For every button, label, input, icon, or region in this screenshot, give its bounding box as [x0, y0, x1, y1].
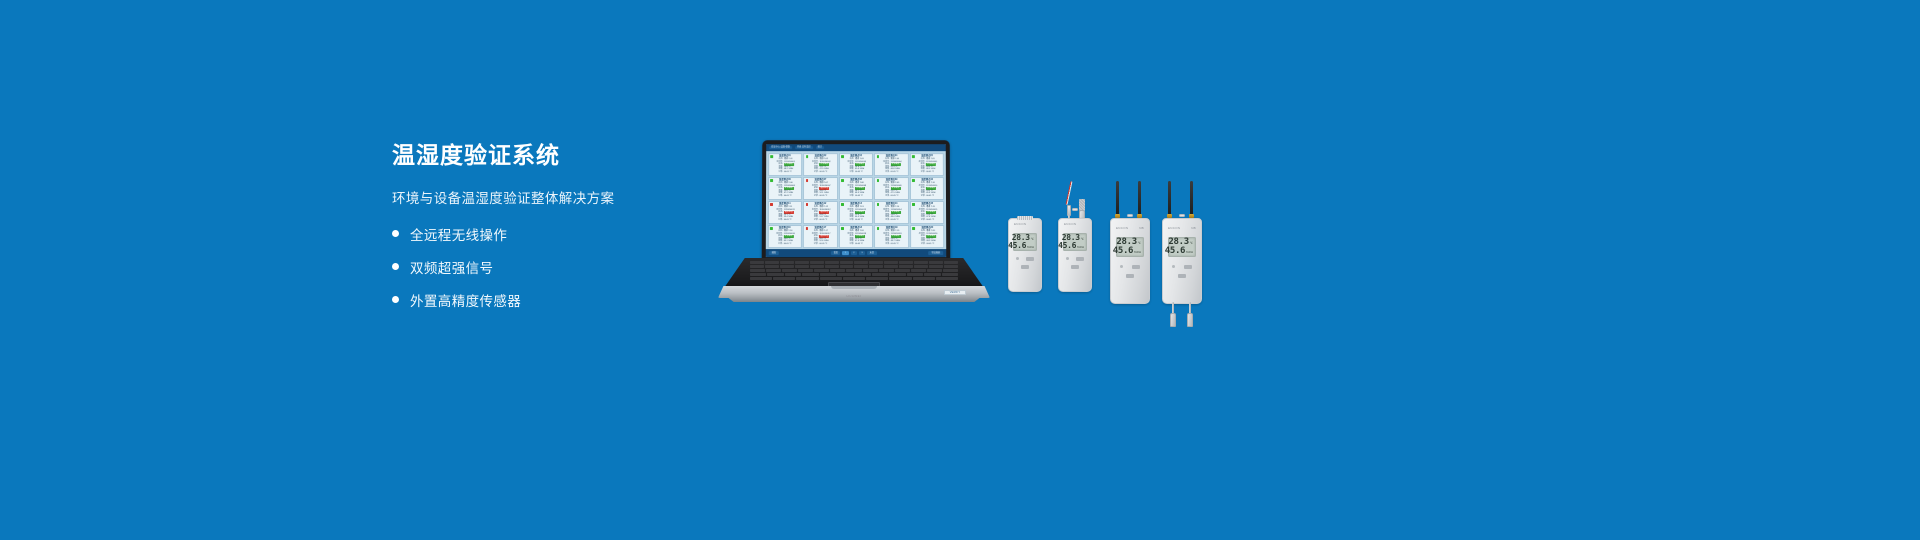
sensor-card-row: 记录:00:05 ℃	[770, 171, 801, 173]
keyboard-key[interactable]	[837, 273, 853, 276]
status-led-icon	[806, 155, 809, 158]
sensor-card-row: 记录:00:05 ℃	[769, 243, 800, 246]
hanging-hole-icon	[1179, 214, 1185, 217]
sensor-card-row: 记录:00:05 ℃	[805, 219, 836, 222]
toolbar-item-device[interactable]: 验证中心-设备/参数	[769, 146, 792, 149]
sensor-card-key: 记录:	[876, 219, 890, 222]
keyboard-key[interactable]	[796, 277, 818, 280]
status-led-icon	[877, 179, 880, 182]
list-item: 全远程无线操作	[392, 224, 722, 244]
device-controls[interactable]	[1059, 257, 1091, 261]
keyboard-key[interactable]	[750, 273, 766, 276]
sensor-card-value: 00:05 ℃	[855, 243, 871, 246]
keyboard-row	[750, 269, 958, 272]
sensor-card-row: 记录:00:05 ℃	[912, 219, 943, 222]
laptop-foot	[726, 298, 982, 302]
list-item: 外置高精度传感器	[392, 290, 722, 310]
hanging-hole-icon	[1072, 208, 1078, 211]
device-function-button[interactable]	[1184, 265, 1192, 269]
device-brand-row: ENCON	[1009, 222, 1041, 226]
sensor-card-title: 温度测点03	[841, 155, 872, 157]
sensor-card-title: 温度测点10	[912, 179, 943, 181]
antenna-left-icon	[1116, 181, 1119, 215]
bullet-dot-icon	[392, 296, 399, 303]
keyboard-keys	[750, 261, 958, 280]
device-logger-probe: ENCON 28.3 ℃ 45.6 %RH	[1058, 203, 1092, 292]
status-led-icon	[912, 203, 915, 206]
keyboard-key[interactable]	[840, 261, 854, 264]
keyboard-key[interactable]	[879, 269, 894, 272]
sensor-card-value: 00:05 ℃	[855, 195, 871, 197]
sensor-card-row: 记录:00:05 ℃	[805, 243, 836, 246]
status-led-icon	[841, 203, 844, 206]
sensor-card-title: 温度测点08	[841, 179, 872, 181]
sensor-card-value: 00:05 ℃	[784, 219, 800, 222]
sensor-card-title: 温度测点11	[769, 203, 800, 205]
device-function-button[interactable]	[1026, 257, 1034, 261]
keyboard-key[interactable]	[795, 265, 809, 268]
bullet-dot-icon	[392, 263, 399, 270]
sensor-card-title: 温度测点01	[770, 155, 801, 157]
sensor-card-key: 记录:	[912, 219, 926, 222]
keyboard-key[interactable]	[798, 269, 813, 272]
sensor-card[interactable]: 温度测点06名称:通道 T-06序列号:1120056006状态:正常采集温度:…	[768, 177, 803, 200]
external-probe-left	[1170, 313, 1176, 327]
keyboard-key[interactable]	[820, 277, 842, 280]
device-menu-button[interactable]	[1071, 265, 1079, 269]
sensor-card-key: 记录:	[769, 243, 783, 246]
page-title: 温湿度验证系统	[392, 142, 722, 170]
probe-cable	[1066, 181, 1073, 205]
banner-subtitle: 环境与设备温湿度验证整体解决方案	[392, 187, 722, 207]
device-logger-dual-antenna: ENCON NB 28.3 ℃ 45.6 %RH	[1110, 181, 1150, 304]
laptop-lid: 验证中心-设备/参数 列表 实时监控 统计 温度测点01名称:通道 T-01序列…	[762, 140, 951, 262]
keyboard-key[interactable]	[810, 261, 824, 264]
keyboard-key[interactable]	[929, 261, 943, 264]
device-lcd-display: 28.3 ℃ 45.6 %RH	[1063, 233, 1087, 251]
keyboard-key[interactable]	[863, 269, 878, 272]
pagination-page[interactable]: 3	[859, 251, 865, 255]
keyboard-key[interactable]	[944, 265, 958, 268]
toolbar-item-monitor[interactable]: 列表 实时监控	[795, 146, 813, 149]
laptop-sticker: VERIFY	[944, 290, 966, 295]
sensor-card-value: 00:05 ℃	[926, 171, 942, 173]
sensor-card-row: 记录:00:05 ℃	[876, 171, 907, 173]
sensor-card-key: 记录:	[770, 195, 784, 197]
lcd-humidity-row: 45.6 %RH	[1119, 247, 1141, 256]
device-menu-button[interactable]	[1126, 274, 1134, 278]
keyboard-key[interactable]	[825, 261, 839, 264]
sensor-card[interactable]: 温度测点15名称:通道 T-15序列号:1120056015状态:正常采集温度:…	[910, 201, 945, 224]
sensor-card-title: 温度测点17	[805, 227, 836, 229]
sensor-card-title: 温度测点05	[912, 155, 943, 157]
keyboard-key[interactable]	[869, 261, 883, 264]
keyboard-key[interactable]	[895, 269, 910, 272]
banner-copy: 温湿度验证系统 环境与设备温湿度验证整体解决方案 全远程无线操作 双频超强信号 …	[392, 142, 722, 310]
external-probe-right	[1187, 313, 1193, 327]
status-led-icon	[841, 227, 844, 230]
sensor-card[interactable]: 温度测点01名称:通道 T-01序列号:1120056001状态:正常采集温度:…	[768, 153, 803, 176]
sensor-card-key: 记录:	[805, 219, 819, 222]
toolbar-item-stats[interactable]: 统计	[816, 146, 824, 149]
keyboard-key[interactable]	[872, 273, 888, 276]
sensor-card-value: 00:05 ℃	[820, 171, 836, 173]
keyboard-key[interactable]	[889, 277, 911, 280]
keyboard-key[interactable]	[924, 273, 940, 276]
keyboard-key[interactable]	[855, 273, 871, 276]
sensor-card-value: 00:05 ℃	[784, 171, 800, 173]
device-controls[interactable]	[1009, 257, 1041, 261]
keyboard-key[interactable]	[767, 273, 783, 276]
keyboard-key[interactable]	[889, 273, 905, 276]
device-controls[interactable]	[1163, 265, 1201, 269]
device-brand-row: ENCON NB	[1163, 226, 1201, 230]
lcd-humidity-value: 45.6	[1008, 242, 1026, 250]
pagination-page[interactable]: 首页	[831, 251, 840, 255]
sensor-card[interactable]: 温度测点20名称:通道 T-20序列号:1120056020状态:正常采集温度:…	[910, 225, 945, 248]
sensor-card-key: 记录:	[841, 219, 855, 222]
sensor-card-row: 记录:00:05 ℃	[805, 195, 836, 197]
antenna-left-icon	[1168, 181, 1171, 215]
lcd-humidity-unit: %RH	[1186, 251, 1193, 254]
sensor-card-title: 温度测点18	[841, 227, 872, 229]
sensor-card[interactable]: 温度测点19名称:通道 T-19序列号:1120056019状态:正常采集温度:…	[874, 225, 909, 248]
sensor-card-title: 温度测点07	[805, 179, 836, 181]
bullet-dot-icon	[392, 230, 399, 237]
device-brand-row: ENCON	[1059, 222, 1091, 226]
keyboard-key[interactable]	[765, 265, 779, 268]
lcd-temperature-unit: ℃	[1081, 238, 1084, 241]
keyboard-key[interactable]	[884, 265, 898, 268]
sensor-card[interactable]: 温度测点08名称:通道 T-08序列号:1120056008状态:正常采集温度:…	[839, 177, 874, 200]
keyboard-row	[750, 277, 958, 280]
keyboard-key[interactable]	[884, 261, 898, 264]
device-function-button[interactable]	[1076, 257, 1084, 261]
status-led-icon	[770, 227, 773, 230]
keyboard-key[interactable]	[854, 261, 868, 264]
sensor-card-title: 温度测点06	[770, 179, 801, 181]
sensor-card-row: 记录:00:05 ℃	[876, 195, 907, 197]
sensor-card-title: 温度测点14	[876, 203, 907, 205]
sensor-card-key: 记录:	[912, 171, 926, 173]
lcd-humidity-row: 45.6 %RH	[1016, 242, 1034, 250]
app-bottom-toolbar: 刷新 首页123末页 导出报表	[766, 249, 947, 257]
keyboard-key[interactable]	[840, 265, 854, 268]
keyboard-key[interactable]	[773, 277, 795, 280]
laptop-product-image: 验证中心-设备/参数 列表 实时监控 统计 温度测点01名称:通道 T-01序列…	[718, 140, 990, 302]
sensor-card[interactable]: 温度测点10名称:通道 T-10序列号:1120056010状态:正常采集温度:…	[910, 177, 945, 200]
status-led-icon	[806, 179, 809, 182]
device-brand-left: ENCON	[1116, 226, 1128, 230]
sensor-card-key: 记录:	[805, 243, 819, 246]
product-banner: 温湿度验证系统 环境与设备温湿度验证整体解决方案 全远程无线操作 双频超强信号 …	[0, 0, 1920, 540]
sensor-card-row: 记录:00:05 ℃	[841, 195, 872, 197]
lcd-humidity-unit: %RH	[1134, 251, 1141, 254]
laptop-screen: 验证中心-设备/参数 列表 实时监控 统计 温度测点01名称:通道 T-01序列…	[766, 144, 947, 257]
vent-grill-icon	[1017, 216, 1033, 220]
keyboard-key[interactable]	[907, 273, 923, 276]
status-led-icon	[912, 227, 915, 230]
pagination-page[interactable]: 2	[851, 251, 857, 255]
keyboard-key[interactable]	[899, 265, 913, 268]
keyboard-key[interactable]	[943, 269, 958, 272]
app-toolbar: 验证中心-设备/参数 列表 实时监控 统计	[766, 144, 946, 151]
sensor-card-value: 00:05 ℃	[819, 195, 835, 197]
keyboard-key[interactable]	[810, 265, 824, 268]
device-controls[interactable]	[1111, 265, 1149, 269]
sensor-card-title: 温度测点15	[912, 203, 943, 205]
lcd-humidity-value: 45.6	[1165, 247, 1185, 256]
keyboard-key[interactable]	[750, 269, 765, 272]
status-led-icon	[806, 203, 809, 206]
status-led-icon	[841, 155, 844, 158]
keyboard-key[interactable]	[843, 277, 865, 280]
sensor-card[interactable]: 温度测点13名称:通道 T-13序列号:1120056013状态:正常采集温度:…	[839, 201, 874, 224]
lcd-humidity-unit: %RH	[1027, 246, 1034, 249]
sensor-card-grid: 温度测点01名称:通道 T-01序列号:1120056001状态:正常采集温度:…	[766, 151, 946, 249]
keyboard-key[interactable]	[927, 269, 942, 272]
list-item: 双频超强信号	[392, 257, 722, 277]
keyboard-row	[750, 265, 958, 268]
lcd-humidity-value: 45.6	[1058, 242, 1076, 250]
keyboard-key[interactable]	[914, 261, 928, 264]
keyboard-key[interactable]	[913, 277, 935, 280]
lcd-humidity-unit: %RH	[1077, 246, 1084, 249]
keyboard-key[interactable]	[766, 269, 781, 272]
keyboard-key[interactable]	[802, 273, 818, 276]
device-lcd-display: 28.3 ℃ 45.6 %RH	[1116, 237, 1144, 257]
sensor-card-row: 记录:00:05 ℃	[805, 171, 836, 173]
sensor-card-value: 00:05 ℃	[891, 243, 907, 246]
status-led-icon	[770, 179, 773, 182]
device-power-button[interactable]	[1066, 257, 1069, 260]
sensor-card-value: 00:05 ℃	[926, 243, 942, 246]
sensor-card-value: 00:05 ℃	[926, 219, 942, 222]
sensor-card-key: 记录:	[841, 171, 855, 173]
lid-notch	[831, 286, 877, 289]
sensor-card-title: 温度测点16	[769, 227, 800, 229]
sensor-card[interactable]: 温度测点12名称:通道 T-12序列号:1120056012状态:超限报警温度:…	[803, 201, 838, 224]
keyboard-key[interactable]	[765, 261, 779, 264]
device-menu-button[interactable]	[1021, 265, 1029, 269]
keyboard-key[interactable]	[911, 269, 926, 272]
sensor-card-key: 记录:	[912, 243, 926, 246]
sensor-card-value: 00:05 ℃	[784, 243, 800, 246]
pagination-page[interactable]: 末页	[867, 251, 876, 255]
lcd-humidity-row: 45.6 %RH	[1171, 247, 1193, 256]
laptop-brand-label: HUAWEI	[847, 294, 862, 298]
keyboard-row	[750, 261, 958, 264]
sensor-card[interactable]: 温度测点18名称:通道 T-18序列号:1120056018状态:正常采集温度:…	[839, 225, 874, 248]
sensor-card[interactable]: 温度测点16名称:通道 T-16序列号:1120056016状态:正常采集温度:…	[767, 225, 802, 248]
sensor-card[interactable]: 温度测点14名称:通道 T-14序列号:1120056014状态:正常采集温度:…	[874, 201, 909, 224]
keyboard-key[interactable]	[854, 265, 868, 268]
keyboard-key[interactable]	[942, 273, 958, 276]
sensor-card-title: 温度测点20	[912, 227, 943, 229]
sensor-card[interactable]: 温度测点17名称:通道 T-17序列号:1120056017状态:超限报警温度:…	[803, 225, 838, 248]
feature-label: 全远程无线操作	[410, 224, 507, 244]
device-lcd-display: 28.3 ℃ 45.6 %RH	[1168, 237, 1196, 257]
device-function-button[interactable]	[1132, 265, 1140, 269]
device-controls-secondary[interactable]	[1009, 265, 1041, 269]
keyboard-key[interactable]	[750, 261, 764, 264]
sensor-card-value: 00:05 ℃	[891, 219, 907, 222]
keyboard-key[interactable]	[944, 261, 958, 264]
sensor-card-row: 记录:00:05 ℃	[876, 219, 907, 222]
sensor-card-row: 记录:00:05 ℃	[912, 195, 943, 197]
lcd-temperature-unit: ℃	[1031, 238, 1034, 241]
keyboard-key[interactable]	[846, 269, 861, 272]
antenna-right-icon	[1190, 181, 1193, 215]
laptop-keyboard-deck	[724, 258, 984, 288]
sensor-card-title: 温度测点09	[876, 179, 907, 181]
keyboard-key[interactable]	[899, 261, 913, 264]
device-power-button[interactable]	[1172, 265, 1175, 268]
status-led-icon	[806, 227, 809, 230]
sensor-device-group: ENCON 28.3 ℃ 45.6 %RH	[1000, 175, 1220, 315]
hanging-hole-icon	[1127, 214, 1133, 217]
keyboard-key[interactable]	[780, 261, 794, 264]
device-brand-left: ENCON	[1064, 222, 1076, 226]
keyboard-key[interactable]	[914, 265, 928, 268]
device-controls-secondary[interactable]	[1163, 274, 1201, 278]
keyboard-key[interactable]	[782, 269, 797, 272]
lcd-temperature-unit: ℃	[1190, 242, 1193, 245]
sensor-card-value: 00:05 ℃	[855, 171, 871, 173]
status-led-icon	[877, 203, 880, 206]
sensor-card-value: 00:05 ℃	[784, 195, 800, 197]
sensor-card-row: 记录:00:05 ℃	[770, 195, 801, 197]
refresh-button[interactable]: 刷新	[769, 251, 779, 255]
device-brand-right: NB	[1139, 226, 1144, 230]
keyboard-key[interactable]	[825, 265, 839, 268]
sensor-card-key: 记录:	[876, 195, 890, 197]
keyboard-row	[750, 273, 958, 276]
sensor-card[interactable]: 温度测点07名称:通道 T-07序列号:1120056007状态:超限报警温度:…	[803, 177, 838, 200]
device-controls-secondary[interactable]	[1111, 274, 1149, 278]
keyboard-key[interactable]	[785, 273, 801, 276]
sensor-card-key: 记录:	[841, 195, 855, 197]
sensor-card-row: 记录:00:05 ℃	[841, 219, 872, 222]
status-led-icon	[841, 179, 844, 182]
sensor-card-value: 00:05 ℃	[819, 219, 835, 222]
lcd-humidity-value: 45.6	[1113, 247, 1133, 256]
sensor-card-row: 记录:00:05 ℃	[769, 219, 800, 222]
device-power-button[interactable]	[1120, 265, 1123, 268]
sensor-card-value: 00:05 ℃	[891, 195, 907, 197]
sensor-card[interactable]: 温度测点03名称:通道 T-03序列号:1120056003状态:正常采集温度:…	[839, 153, 874, 176]
sensor-card-row: 记录:00:05 ℃	[912, 243, 943, 246]
device-menu-button[interactable]	[1178, 274, 1186, 278]
keyboard-key[interactable]	[750, 277, 772, 280]
sensor-card-value: 00:05 ℃	[926, 195, 942, 197]
keyboard-key[interactable]	[814, 269, 829, 272]
sensor-card-value: 00:05 ℃	[819, 243, 835, 246]
device-brand-left: ENCON	[1168, 226, 1180, 230]
lcd-humidity-row: 45.6 %RH	[1066, 242, 1084, 250]
keyboard-key[interactable]	[780, 265, 794, 268]
sensor-card-key: 记录:	[912, 195, 926, 197]
keyboard-key[interactable]	[795, 261, 809, 264]
sensor-card-key: 记录:	[770, 171, 784, 173]
antenna-right-icon	[1138, 181, 1141, 215]
sensor-card-row: 记录:00:05 ℃	[841, 171, 872, 173]
pagination-page[interactable]: 1	[842, 251, 848, 255]
device-power-button[interactable]	[1016, 257, 1019, 260]
device-logger-external-sensor: ENCON NB 28.3 ℃ 45.6 %RH	[1162, 181, 1202, 304]
sensor-card-key: 记录:	[876, 243, 890, 246]
export-report-button[interactable]: 导出报表	[928, 251, 943, 255]
keyboard-key[interactable]	[869, 265, 883, 268]
status-led-icon	[912, 179, 915, 182]
sensor-card-title: 温度测点12	[805, 203, 836, 205]
sensor-card[interactable]: 温度测点09名称:通道 T-09序列号:1120056009状态:正常采集温度:…	[874, 177, 909, 200]
sensor-card-title: 温度测点13	[841, 203, 872, 205]
device-controls-secondary[interactable]	[1059, 265, 1091, 269]
sensor-card-title: 温度测点04	[876, 155, 907, 157]
sensor-card-row: 记录:00:05 ℃	[876, 243, 907, 246]
keyboard-key[interactable]	[936, 277, 958, 280]
device-logger-basic: ENCON 28.3 ℃ 45.6 %RH	[1008, 218, 1042, 292]
keyboard-key[interactable]	[750, 265, 764, 268]
feature-label: 双频超强信号	[410, 257, 493, 277]
status-led-icon	[877, 227, 880, 230]
pagination: 首页123末页	[831, 251, 877, 255]
status-led-icon	[877, 155, 880, 158]
sensor-card-key: 记录:	[841, 243, 855, 246]
device-brand-left: ENCON	[1014, 222, 1026, 226]
sensor-card-title: 温度测点02	[805, 155, 836, 157]
laptop-base: HUAWEI VERIFY	[718, 258, 990, 302]
keyboard-key[interactable]	[929, 265, 943, 268]
sensor-card-key: 记录:	[769, 219, 783, 222]
status-led-icon	[770, 155, 773, 158]
sensor-card[interactable]: 温度测点11名称:通道 T-11序列号:1120056011状态:超限报警温度:…	[767, 201, 802, 224]
sensor-card-key: 记录:	[805, 195, 819, 197]
feature-list: 全远程无线操作 双频超强信号 外置高精度传感器	[392, 224, 722, 310]
device-brand-right: NB	[1191, 226, 1196, 230]
sensor-card-value: 00:05 ℃	[891, 171, 907, 173]
sensor-card[interactable]: 温度测点02名称:通道 T-02序列号:1120056002状态:正常采集温度:…	[803, 153, 838, 176]
keyboard-key[interactable]	[820, 273, 836, 276]
keyboard-key[interactable]	[866, 277, 888, 280]
sensor-card[interactable]: 温度测点04名称:通道 T-04序列号:1120056004状态:正常采集温度:…	[874, 153, 909, 176]
sensor-card-key: 记录:	[876, 171, 890, 173]
sensor-card-row: 记录:00:05 ℃	[912, 171, 943, 173]
sensor-card-title: 温度测点19	[876, 227, 907, 229]
status-led-icon	[912, 155, 915, 158]
sensor-card-value: 00:05 ℃	[855, 219, 871, 222]
device-brand-row: ENCON NB	[1111, 226, 1149, 230]
lcd-temperature-unit: ℃	[1138, 242, 1141, 245]
sensor-card[interactable]: 温度测点05名称:通道 T-05序列号:1120056005状态:正常采集温度:…	[910, 153, 945, 176]
keyboard-key[interactable]	[830, 269, 845, 272]
sensor-card-key: 记录:	[805, 171, 819, 173]
status-led-icon	[770, 203, 773, 206]
device-lcd-display: 28.3 ℃ 45.6 %RH	[1013, 233, 1037, 251]
sensor-card-row: 记录:00:05 ℃	[841, 243, 872, 246]
feature-label: 外置高精度传感器	[410, 290, 521, 310]
